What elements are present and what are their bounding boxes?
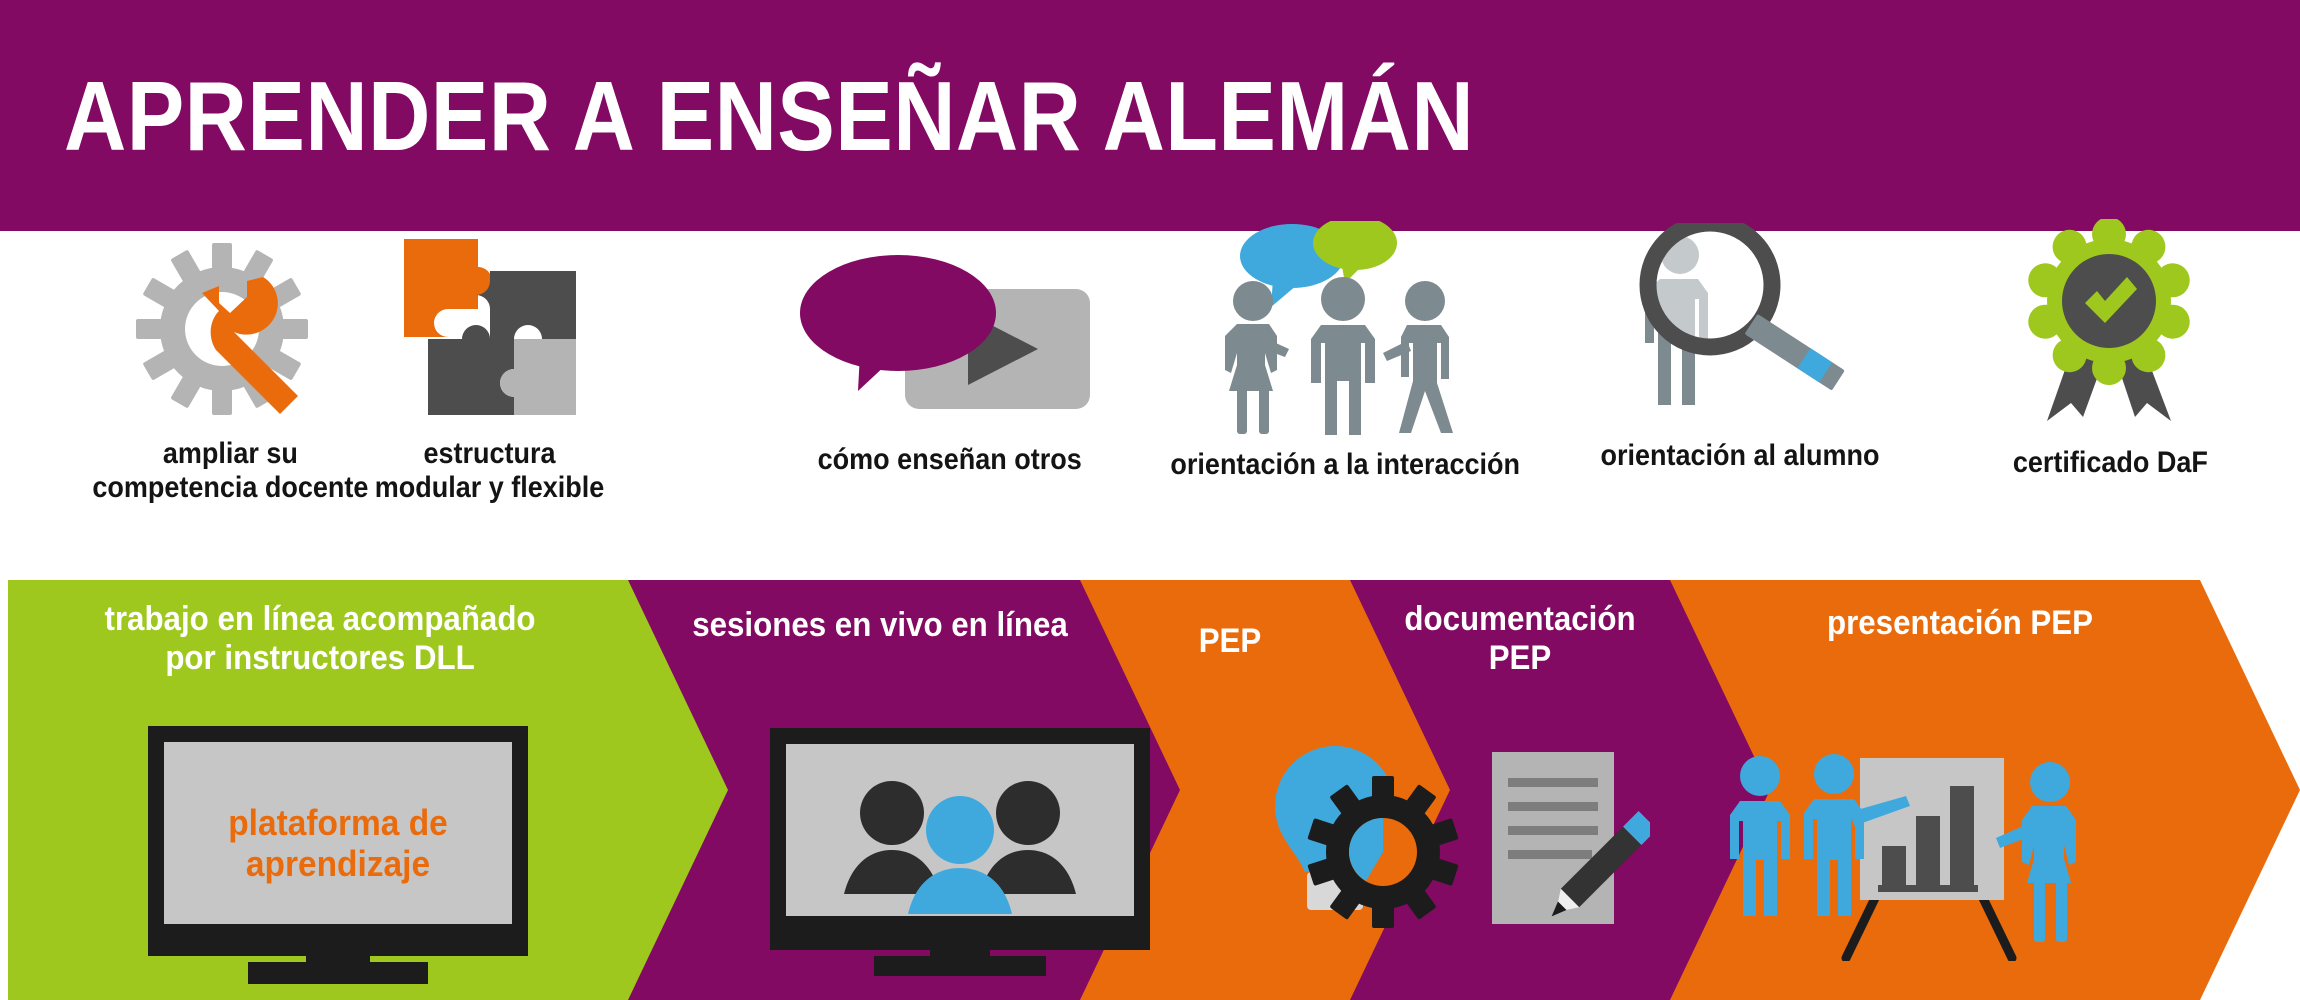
feature-label: estructura modular y flexible	[375, 437, 605, 504]
feature-label: ampliar su competencia docente	[92, 437, 368, 504]
feature-item-puzzle: estructura modular y flexible	[335, 231, 645, 504]
infographic-page: APRENDER A ENSEÑAR ALEMÁN	[0, 0, 2300, 1000]
feature-label: cómo enseñan otros	[818, 443, 1082, 477]
magnifier-handle	[1745, 314, 1845, 391]
platform-screen-text: plataforma de aprendizaje	[180, 802, 496, 884]
monitor-base	[874, 956, 1046, 976]
process-step-label: trabajo en línea acompañado por instruct…	[62, 600, 577, 679]
gear-wrench-icon	[130, 241, 330, 431]
feature-item-video-speech: cómo enseñan otros	[780, 251, 1120, 477]
easel-legs	[1846, 896, 2012, 958]
video-conference-monitor-icon	[770, 728, 1150, 978]
magnifier-person-icon	[1610, 223, 1870, 423]
speech-bubble-shape	[800, 255, 996, 371]
person-right	[1383, 281, 1453, 433]
feature-item-people-talking: orientación a la interacción	[1145, 221, 1545, 482]
page-title: APRENDER A ENSEÑAR ALEMÁN	[64, 67, 1474, 165]
video-speech-bubble-icon	[800, 251, 1100, 421]
process-step-label: documentación PEP	[1364, 600, 1677, 679]
process-step-label: PEP	[1101, 622, 1359, 661]
lightbulb-gear-icon	[1255, 740, 1465, 940]
feature-icon-row: ampliar su competencia docente estructur…	[0, 231, 2300, 580]
document-pencil-icon	[1470, 748, 1650, 948]
process-band: presentación PEP	[0, 580, 2300, 1000]
person-left	[1225, 281, 1289, 434]
feature-label: orientación a la interacción	[1170, 448, 1520, 482]
monitor-neck	[930, 924, 990, 960]
feature-item-magnifier: orientación al alumno	[1550, 223, 1930, 473]
monitor-neck	[306, 931, 370, 965]
audience-person-right	[1996, 762, 2076, 942]
feature-label: orientación al alumno	[1600, 439, 1879, 473]
monitor-base	[248, 962, 428, 984]
three-people-speech-icon	[1215, 221, 1475, 436]
person-middle	[1311, 277, 1375, 435]
header-banner: APRENDER A ENSEÑAR ALEMÁN	[0, 0, 2300, 231]
feature-item-certificate: certificado DaF	[1945, 219, 2275, 480]
puzzle-piece-dark-tr	[476, 271, 576, 339]
puzzle-piece-orange	[404, 239, 492, 337]
process-step-label: presentación PEP	[1721, 604, 2199, 643]
rosette-badge	[2024, 219, 2194, 385]
certificate-rosette-icon	[1995, 219, 2225, 424]
puzzle-pieces-icon	[390, 231, 590, 431]
feature-label: certificado DaF	[2012, 446, 2207, 480]
document-page	[1492, 752, 1614, 924]
presentation-flipchart-icon	[1720, 746, 2100, 961]
process-step-label: sesiones en vivo en línea	[678, 606, 1083, 645]
audience-person-left	[1730, 756, 1790, 916]
